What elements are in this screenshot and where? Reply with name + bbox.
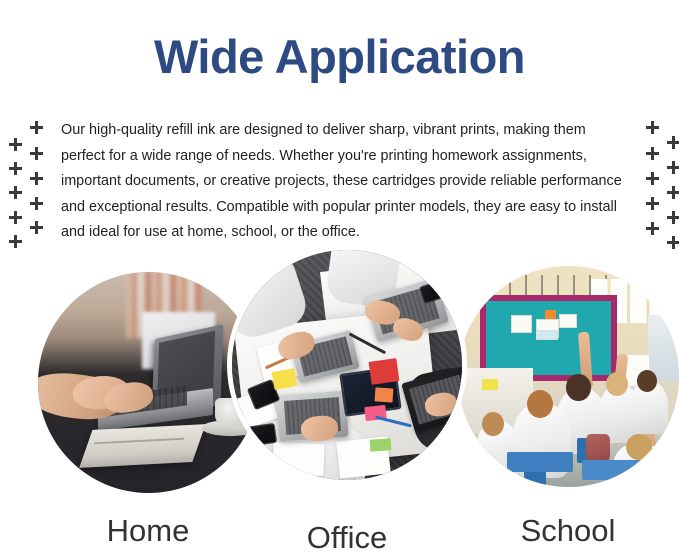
desk bbox=[507, 452, 573, 472]
school-photo-scene bbox=[458, 266, 679, 487]
sticky-note-green bbox=[370, 438, 391, 451]
pinned-chart bbox=[536, 330, 558, 339]
student-head bbox=[637, 370, 657, 392]
pinned-worksheet bbox=[511, 315, 532, 333]
use-case-image-school[interactable] bbox=[458, 266, 679, 487]
home-photo-scene bbox=[38, 272, 259, 493]
desk bbox=[582, 460, 657, 480]
wall-sign bbox=[482, 379, 497, 390]
use-case-label-home: Home bbox=[58, 512, 238, 550]
student-head bbox=[566, 374, 590, 401]
sticky-note-red bbox=[369, 359, 400, 386]
use-case-label-school: School bbox=[478, 512, 658, 550]
document-sheet bbox=[273, 442, 325, 476]
sticky-note-orange bbox=[374, 387, 393, 402]
open-notebook bbox=[79, 424, 205, 467]
use-case-gallery: Home bbox=[0, 0, 679, 554]
office-photo-scene bbox=[232, 250, 462, 480]
use-case-image-office[interactable] bbox=[232, 250, 462, 480]
use-case-image-home[interactable] bbox=[38, 272, 259, 493]
use-case-label-office: Office bbox=[257, 519, 437, 557]
pinned-worksheet bbox=[559, 314, 577, 328]
